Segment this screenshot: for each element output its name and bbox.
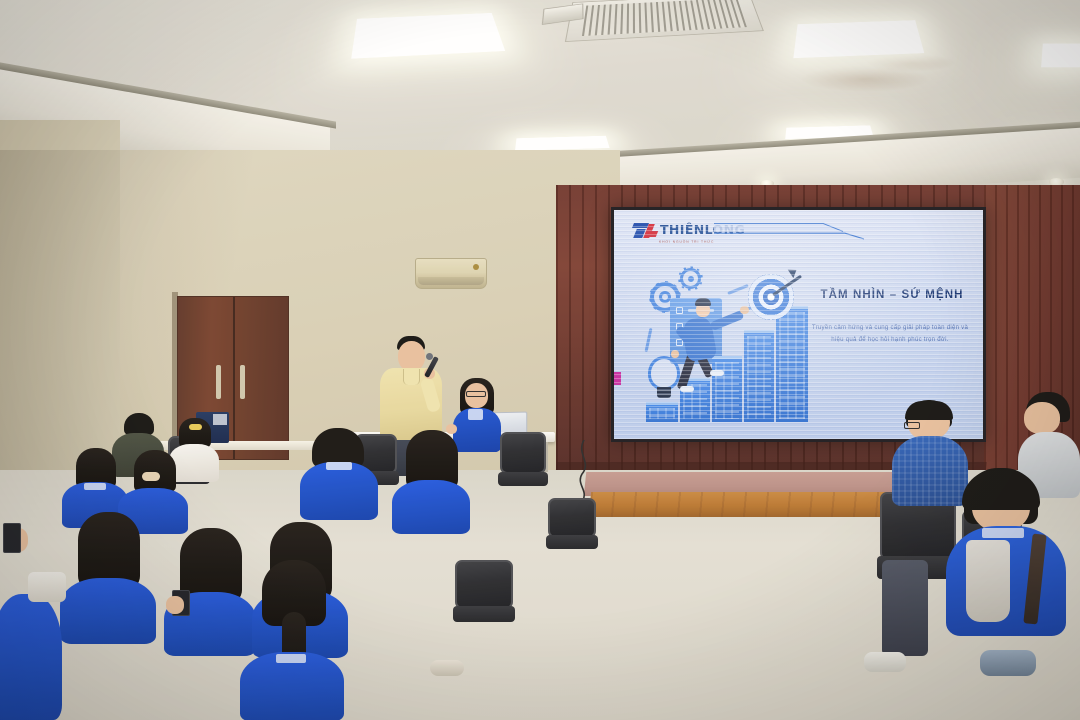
- sandal: [430, 660, 464, 676]
- trousers: [882, 560, 928, 656]
- audience-member: [60, 512, 156, 642]
- meeting-room-photo: THIÊNLONG KHƠI NGUỒN TRI THỨC: [0, 0, 1080, 720]
- ceiling-cassette-ac: [565, 0, 764, 42]
- cable: [574, 440, 596, 500]
- collar: [982, 528, 1024, 538]
- hand: [166, 596, 184, 614]
- draped-coat: [966, 540, 1010, 622]
- hair: [134, 450, 176, 492]
- blue-uniform-shirt: [392, 480, 470, 534]
- ceiling-led-panel: [351, 13, 505, 59]
- audience-member: [240, 560, 344, 720]
- head: [1024, 402, 1060, 434]
- ceiling-led-panel: [1041, 44, 1080, 68]
- hair-top: [962, 470, 1040, 510]
- chair[interactable]: [548, 498, 596, 560]
- white-bag: [28, 572, 66, 602]
- chair[interactable]: [455, 560, 513, 636]
- smartphone[interactable]: [3, 523, 21, 553]
- door-handle[interactable]: [240, 365, 245, 399]
- shoe: [864, 652, 906, 672]
- hair-top: [905, 401, 953, 420]
- ac-grille: [582, 0, 747, 36]
- wall-split-air-conditioner: [415, 258, 487, 289]
- blue-uniform-shirt: [300, 462, 378, 520]
- audience-member: [300, 428, 378, 520]
- collar: [84, 483, 106, 490]
- glasses-icon: [904, 422, 920, 429]
- chair[interactable]: [500, 432, 546, 498]
- collar: [276, 654, 306, 663]
- hair-scrunchie: [142, 472, 160, 481]
- assistant-collar: [468, 409, 483, 420]
- presenter-head: [398, 341, 425, 371]
- ceiling-led-panel: [793, 20, 924, 58]
- glasses-icon: [466, 391, 486, 397]
- ceiling-led-panel: [515, 136, 610, 151]
- audience-member: [392, 430, 470, 532]
- shoe: [980, 650, 1036, 676]
- presenter-collar: [403, 369, 420, 385]
- blue-uniform-shirt: [0, 594, 62, 720]
- ac-vane: [542, 3, 584, 24]
- ceiling-stain: [866, 54, 956, 72]
- door-handle[interactable]: [216, 365, 221, 399]
- blue-uniform-shirt: [60, 578, 156, 644]
- collar: [326, 462, 352, 470]
- ac-indicator-led: [473, 264, 479, 270]
- door-split-line: [233, 297, 235, 459]
- hair: [124, 413, 154, 435]
- microphone-head: [426, 353, 433, 360]
- hair-tie: [189, 424, 202, 430]
- ac-lip: [418, 277, 484, 285]
